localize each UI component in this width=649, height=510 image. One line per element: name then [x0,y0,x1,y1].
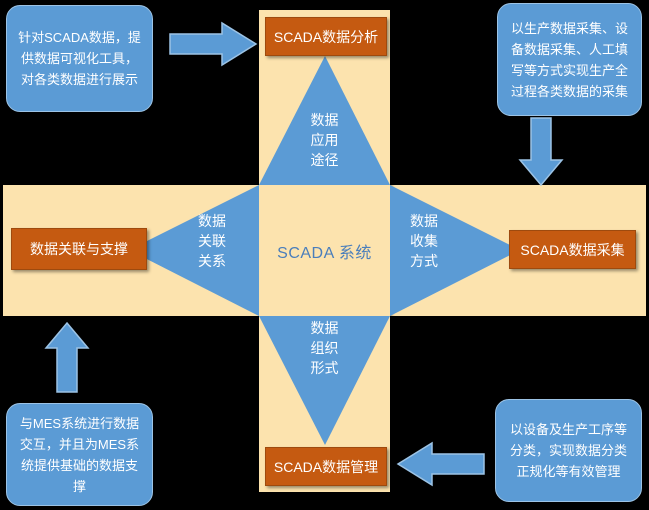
node-scada-data-management-label: SCADA数据管理 [274,457,378,477]
node-scada-data-management[interactable]: SCADA数据管理 [265,447,387,486]
callout-bottom-right[interactable]: 以设备及生产工序等分类，实现数据分类正规化等有效管理 [495,399,642,502]
node-scada-data-collection-label: SCADA数据采集 [520,240,624,260]
branch-triangle-right [390,185,520,316]
arrow-down-icon [516,116,566,188]
callout-top-right[interactable]: 以生产数据采集、设备数据采集、人工填写等方式实现生产全过程各类数据的采集 [497,3,642,116]
arrow-right-icon [168,20,260,70]
callout-top-left-text: 针对SCADA数据，提供数据可视化工具，对各类数据进行展示 [15,27,144,90]
arrow-up-icon [42,320,92,396]
center-node-label: SCADA 系统 [277,239,372,263]
node-data-association-support[interactable]: 数据关联与支撑 [11,228,147,270]
center-node: SCADA 系统 [259,185,390,316]
callout-bottom-left[interactable]: 与MES系统进行数据交互，并且为MES系统提供基础的数据支撑 [6,403,153,506]
branch-triangle-left [129,185,259,316]
callout-top-left[interactable]: 针对SCADA数据，提供数据可视化工具，对各类数据进行展示 [6,5,153,112]
node-scada-data-collection[interactable]: SCADA数据采集 [509,230,636,269]
callout-bottom-right-text: 以设备及生产工序等分类，实现数据分类正规化等有效管理 [504,419,633,482]
node-scada-data-analysis[interactable]: SCADA数据分析 [265,17,387,56]
node-data-association-support-label: 数据关联与支撑 [30,239,128,259]
callout-top-right-text: 以生产数据采集、设备数据采集、人工填写等方式实现生产全过程各类数据的采集 [506,18,633,102]
node-scada-data-analysis-label: SCADA数据分析 [274,27,378,47]
branch-triangle-down [259,316,390,445]
branch-triangle-up [259,56,390,185]
callout-bottom-left-text: 与MES系统进行数据交互，并且为MES系统提供基础的数据支撑 [15,413,144,497]
arrow-left-icon [396,440,488,490]
